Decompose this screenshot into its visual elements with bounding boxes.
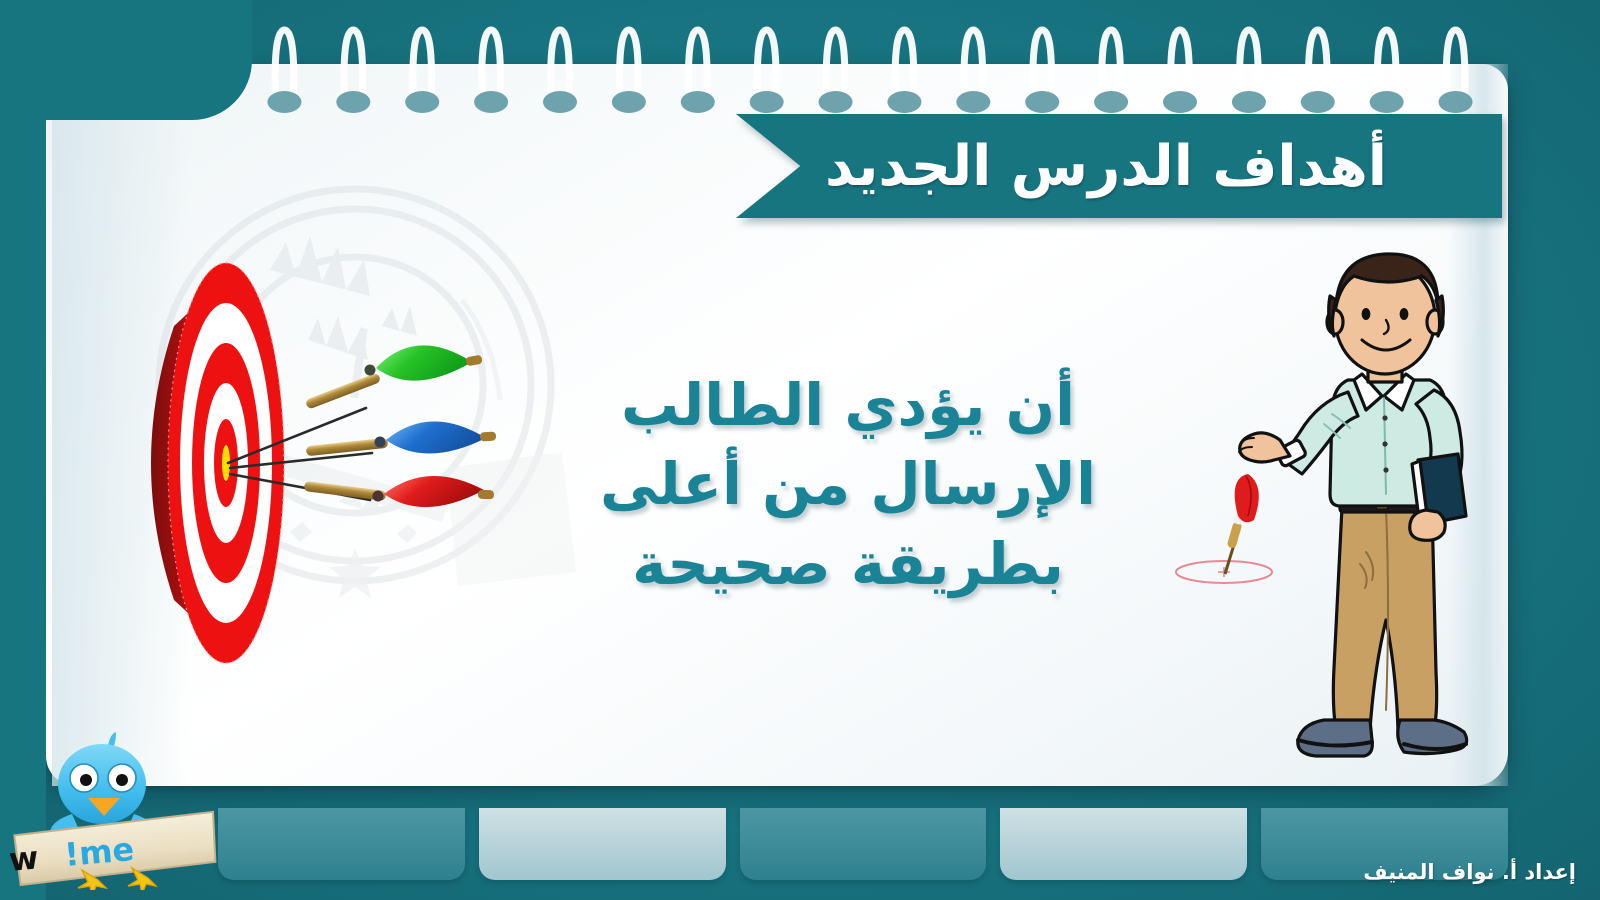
bottom-tab-5[interactable]	[218, 808, 465, 880]
follow-me-badge[interactable]: Follow me!	[10, 722, 234, 890]
page-topleft-notch	[0, 0, 252, 120]
page-title: أهداف الدرس الجديد	[736, 114, 1502, 218]
dartboard-with-darts	[108, 218, 528, 708]
me-text: me!	[63, 830, 136, 874]
bottom-tab-3[interactable]	[740, 808, 987, 880]
slide-canvas: أهداف الدرس الجديد أن يؤدي الطالب الإرسا…	[0, 0, 1600, 900]
bottom-tab-2[interactable]	[1000, 808, 1247, 880]
lesson-objective-text: أن يؤدي الطالب الإرسال من أعلى بطريقة صح…	[548, 366, 1148, 604]
title-banner: أهداف الدرس الجديد	[736, 114, 1502, 218]
follow-me-sign: Follow me!	[10, 812, 218, 890]
bottom-tab-strip	[218, 808, 1508, 880]
teacher-character	[1236, 252, 1516, 764]
author-credit: إعداد أ. نواف المنيف	[1363, 860, 1576, 884]
bottom-tab-4[interactable]	[479, 808, 726, 880]
